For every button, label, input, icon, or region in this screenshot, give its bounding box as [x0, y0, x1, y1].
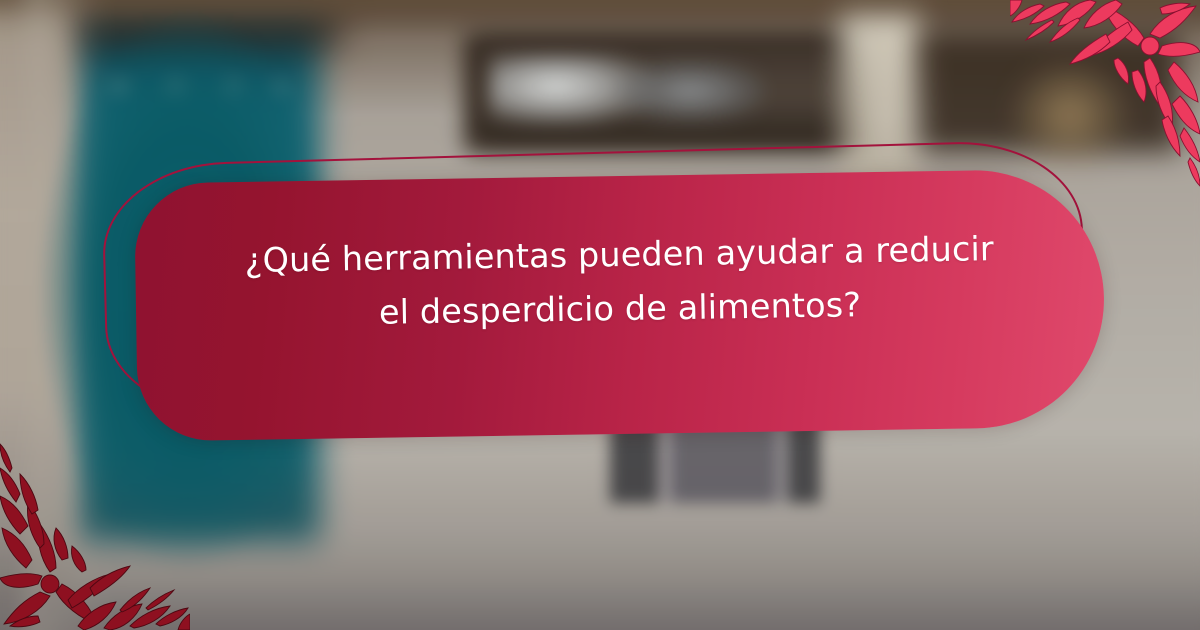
question-line-2: el desperdicio de alimentos? — [379, 285, 862, 332]
banner-filled-shape: ¿Qué herramientas pueden ayudar a reduci… — [134, 168, 1106, 441]
question-card-canvas: ¿Qué herramientas pueden ayudar a reduci… — [0, 0, 1200, 630]
banner-group: ¿Qué herramientas pueden ayudar a reduci… — [0, 0, 1200, 630]
question-text: ¿Qué herramientas pueden ayudar a reduci… — [135, 220, 1105, 344]
question-line-1: ¿Qué herramientas pueden ayudar a reduci… — [244, 229, 994, 280]
